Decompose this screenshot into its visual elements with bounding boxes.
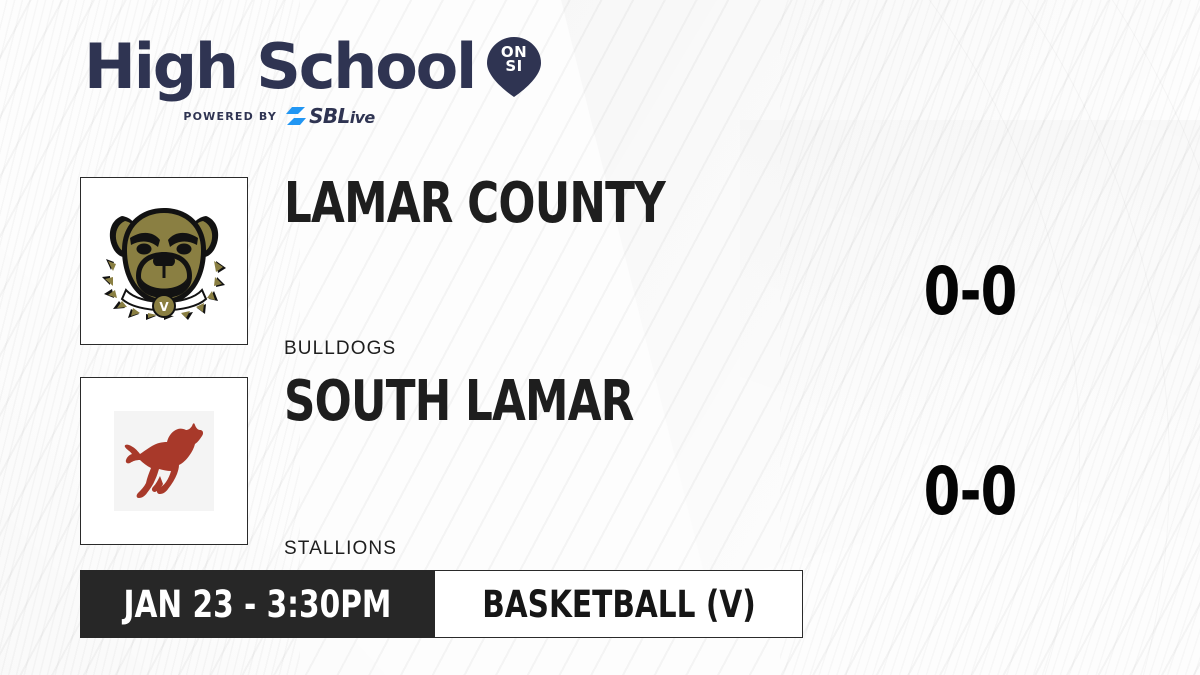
sblive-logo: SBLive <box>285 104 375 128</box>
svg-text:V: V <box>159 300 169 314</box>
sblive-s-mark-icon <box>285 106 307 126</box>
sblive-wordmark: SBLive <box>309 104 375 128</box>
team-score-1: 0-0 <box>880 259 1060 325</box>
brand-wordmark: High School <box>84 37 475 98</box>
onsi-pin-text: ON SI <box>483 45 545 73</box>
team-score-2: 0-0 <box>880 459 1060 525</box>
powered-by-label: POWERED BY <box>183 110 277 123</box>
matchup-graphic: High School ON SI POWERED BY SBLive <box>0 0 1200 675</box>
game-datetime-label: JAN 23 - 3:30PM <box>124 586 392 623</box>
onsi-line-si: SI <box>483 59 545 73</box>
game-info-bar: JAN 23 - 3:30PM BASKETBALL (V) <box>80 570 803 638</box>
team-mascot-2: STALLIONS <box>284 538 397 560</box>
team-name-2: SOUTH LAMAR <box>284 374 634 430</box>
game-sport-label: BASKETBALL (V) <box>482 586 756 623</box>
team-name-1: LAMAR COUNTY <box>284 176 665 232</box>
powered-by-row: POWERED BY SBLive <box>84 104 474 128</box>
game-sport-block: BASKETBALL (V) <box>435 570 803 638</box>
map-pin-icon: ON SI <box>483 36 545 98</box>
team-mascot-1: BULLDOGS <box>284 338 396 360</box>
brand-logo-row: High School ON SI <box>84 36 514 98</box>
brand-header: High School ON SI POWERED BY SBLive <box>84 36 514 128</box>
team-logo-box-1: V <box>80 177 248 345</box>
running-mustang-logo <box>114 411 214 511</box>
game-datetime-block: JAN 23 - 3:30PM <box>80 570 435 638</box>
bulldog-head-logo: V <box>81 178 247 344</box>
team-logo-box-2 <box>80 377 248 545</box>
